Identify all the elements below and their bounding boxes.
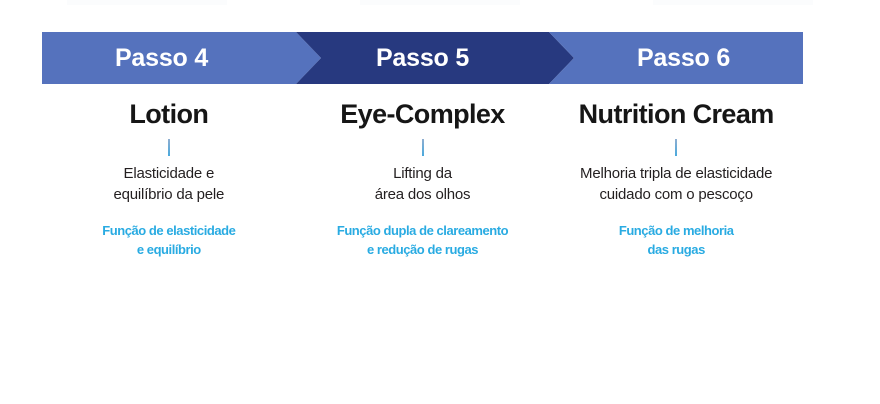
- product-column-eye-complex: Eye-Complex Lifting da área dos olhos Fu…: [296, 86, 550, 260]
- function-line: e equilíbrio: [102, 241, 235, 260]
- product-function: Função de elasticidade e equilíbrio: [102, 222, 235, 260]
- function-line: das rugas: [619, 241, 734, 260]
- function-line: Função de elasticidade: [102, 222, 235, 241]
- product-title: Nutrition Cream: [579, 98, 774, 132]
- product-function: Função dupla de clareamento e redução de…: [337, 222, 508, 260]
- description-line: equilíbrio da pele: [114, 184, 225, 205]
- cutoff-fragment: [0, 0, 293, 8]
- product-description: Elasticidade e equilíbrio da pele: [114, 163, 225, 206]
- step-chevron-1[interactable]: [42, 32, 321, 84]
- cutoff-row-above: [0, 0, 880, 8]
- product-description: Lifting da área dos olhos: [375, 163, 471, 206]
- product-column-lotion: Lotion Elasticidade e equilíbrio da pele…: [42, 86, 296, 260]
- cutoff-fragment: [293, 0, 586, 8]
- description-line: Melhoria tripla de elasticidade: [580, 163, 772, 184]
- function-line: e redução de rugas: [337, 241, 508, 260]
- description-line: área dos olhos: [375, 184, 471, 205]
- step-progress-band: [42, 32, 803, 84]
- product-function: Função de melhoria das rugas: [619, 222, 734, 260]
- divider-rule: [675, 139, 677, 156]
- product-description: Melhoria tripla de elasticidade cuidado …: [580, 163, 772, 206]
- cutoff-fragment: [587, 0, 880, 8]
- step-chevron-3[interactable]: [549, 32, 803, 84]
- function-line: Função de melhoria: [619, 222, 734, 241]
- description-line: Lifting da: [375, 163, 471, 184]
- divider-rule: [422, 139, 424, 156]
- function-line: Função dupla de clareamento: [337, 222, 508, 241]
- product-title: Eye-Complex: [340, 98, 504, 132]
- description-line: cuidado com o pescoço: [580, 184, 772, 205]
- product-columns: Lotion Elasticidade e equilíbrio da pele…: [42, 86, 803, 260]
- step-chevron-2[interactable]: [296, 32, 574, 84]
- product-column-nutrition-cream: Nutrition Cream Melhoria tripla de elast…: [549, 86, 803, 260]
- product-title: Lotion: [129, 98, 208, 132]
- divider-rule: [168, 139, 170, 156]
- description-line: Elasticidade e: [114, 163, 225, 184]
